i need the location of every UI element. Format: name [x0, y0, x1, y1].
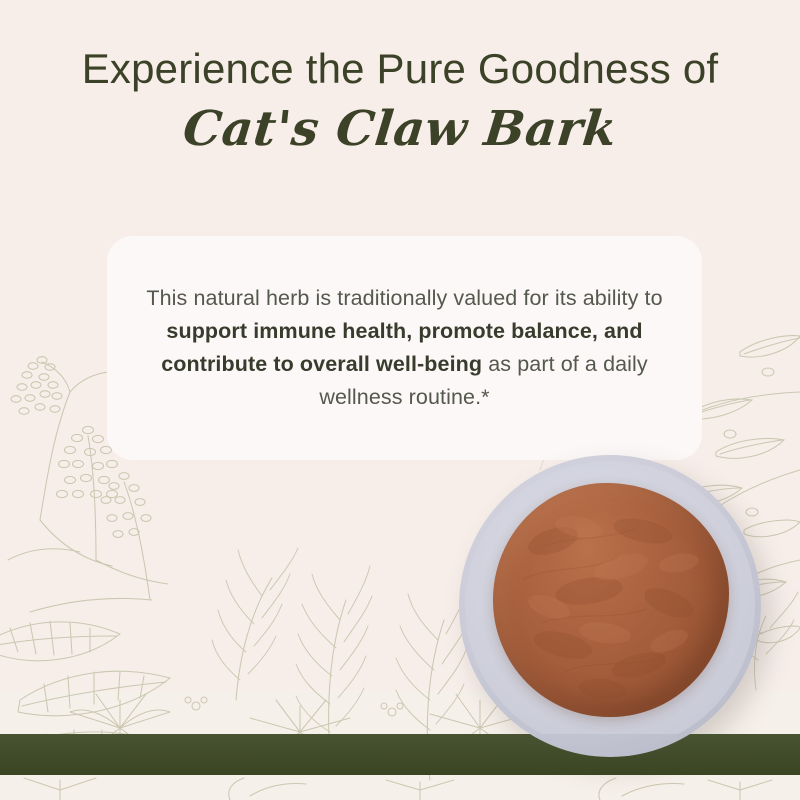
footer-bar-shade [0, 734, 800, 775]
footer-accent-bar [0, 734, 800, 775]
description-card: This natural herb is traditionally value… [107, 236, 702, 460]
promo-graphic: Experience the Pure Goodness of Cat's Cl… [0, 0, 800, 800]
description-text: This natural herb is traditionally value… [145, 282, 665, 414]
powder-plate [459, 455, 761, 757]
description-segment-lead: This natural herb is traditionally value… [146, 286, 662, 310]
headline-line-2-script: Cat's Claw Bark [0, 100, 800, 158]
headline-line-1: Experience the Pure Goodness of [0, 44, 800, 94]
headline: Experience the Pure Goodness of Cat's Cl… [0, 44, 800, 158]
